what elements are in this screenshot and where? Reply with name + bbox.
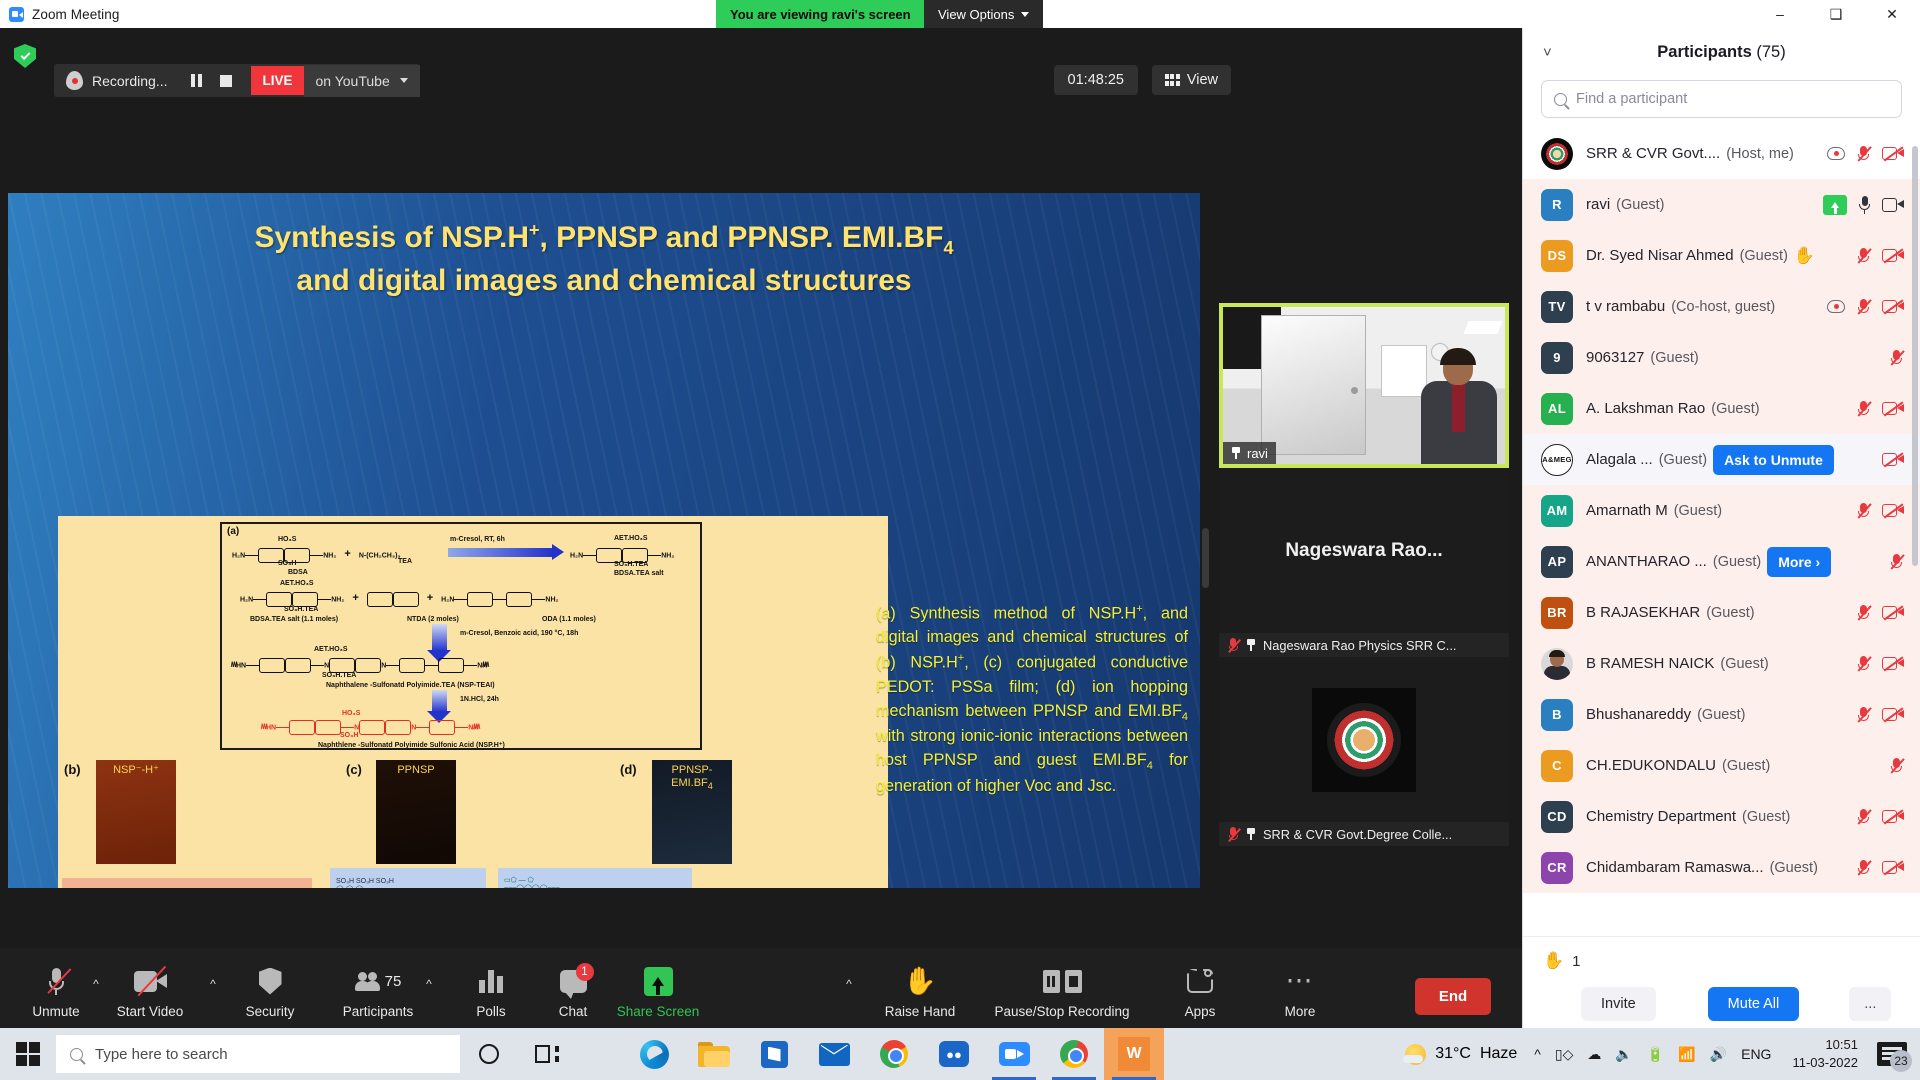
- structure-image-c: ▭⬠ — ⬠~~~◯◯◯◯~~~◯ ◯ ◯ ◯~~~⬡⬡⬡~~~: [498, 868, 692, 888]
- person-in-video: [1419, 351, 1501, 468]
- participant-row[interactable]: BRB RAJASEKHAR(Guest): [1523, 587, 1920, 638]
- taskbar-chrome2-button[interactable]: [1044, 1028, 1104, 1080]
- participant-name: SRR & CVR Govt....(Host, me): [1586, 145, 1827, 162]
- viewing-screen-banner: You are viewing ravi's screen: [716, 0, 925, 28]
- camera-off-icon: [134, 961, 167, 1001]
- start-video-label: Start Video: [117, 1004, 184, 1019]
- zoom-icon: [999, 1042, 1030, 1066]
- raise-hand-label: Raise Hand: [885, 1004, 956, 1019]
- participant-status-icons: [1856, 706, 1904, 724]
- participant-row[interactable]: AMAmarnath M(Guest): [1523, 485, 1920, 536]
- participant-row[interactable]: 99063127(Guest): [1523, 332, 1920, 383]
- audio-options-caret-icon[interactable]: ^: [90, 978, 102, 990]
- taskbar-store-button[interactable]: [744, 1028, 804, 1080]
- edge-icon: [640, 1040, 669, 1069]
- participant-status-icons: [1889, 757, 1904, 775]
- cortana-button[interactable]: [460, 1028, 518, 1080]
- weather-condition: Haze: [1480, 1045, 1517, 1063]
- ask-to-unmute-button[interactable]: Ask to Unmute: [1713, 445, 1834, 475]
- participants-panel: ˅ Participants (75) Find a participant S…: [1522, 28, 1920, 1051]
- college-crest-icon: [1327, 703, 1401, 777]
- slide-title: Synthesis of NSP.H+, PPNSP and PPNSP. EM…: [8, 193, 1200, 300]
- label-condition-1: m-Cresol, RT, 6h: [450, 536, 505, 543]
- taskbar-clock[interactable]: 10:51 11-03-2022: [1778, 1036, 1870, 1071]
- label-product-1: Naphthalene -Sulfonatd Polyimide.TEA (NS…: [326, 682, 495, 689]
- label-so3h-tea: SO₃H.TEA: [322, 672, 356, 679]
- participant-name: Bhushanareddy(Guest): [1586, 706, 1856, 723]
- structure-b-glyphs: SO₃H SO₃H SO₃H◯ ◯ ◯~~~◯●◯●◯~~~◯ ◯ ◯SO₃ S…: [336, 878, 394, 888]
- participant-role: (Guest): [1720, 656, 1768, 672]
- share-caret-icon[interactable]: ^: [843, 978, 855, 990]
- encryption-shield-icon[interactable]: [14, 44, 36, 68]
- thumbnail-nageswara-rao[interactable]: Nageswara Rao...: [1219, 468, 1509, 633]
- thumbnail-label: SRR & CVR Govt.Degree Colle...: [1263, 827, 1452, 842]
- mic-off-icon: [1856, 604, 1871, 622]
- camera-off-icon: [1882, 860, 1904, 875]
- participants-list[interactable]: SRR & CVR Govt....(Host, me)Rravi(Guest)…: [1523, 128, 1920, 988]
- apps-label: Apps: [1185, 1004, 1216, 1019]
- participant-status-icons: [1856, 808, 1904, 826]
- label-oda: ODA (1.1 moles): [542, 616, 596, 623]
- live-badge: LIVE: [251, 66, 303, 95]
- start-button[interactable]: [0, 1028, 56, 1080]
- grid-view-icon: [1165, 74, 1180, 86]
- college-logo-frame: [1312, 688, 1416, 792]
- thumbnail-display-name: Nageswara Rao...: [1285, 540, 1442, 562]
- taskbar-apps: ●● W: [624, 1028, 1164, 1080]
- raise-hand-button[interactable]: ✋ Raise Hand: [872, 961, 968, 1037]
- sample-label-d: (d): [620, 762, 637, 777]
- video-options-caret-icon[interactable]: ^: [207, 978, 219, 990]
- pause-stop-label: Pause/Stop Recording: [994, 1004, 1129, 1019]
- taskbar-search-placeholder: Type here to search: [95, 1046, 228, 1063]
- participants-button[interactable]: 75 Participants: [330, 961, 426, 1037]
- label-bdsa-tea-salt: BDSA.TEA salt: [614, 570, 664, 577]
- mic-on-icon: [1858, 196, 1871, 214]
- participant-row[interactable]: Rravi(Guest): [1523, 179, 1920, 230]
- participant-role: (Guest): [1616, 197, 1664, 213]
- pause-icon: [191, 74, 202, 87]
- sample-caption-d-sub: 4: [708, 781, 713, 791]
- participant-name: 9063127(Guest): [1586, 349, 1889, 366]
- participants-more-button[interactable]: ...: [1849, 987, 1891, 1021]
- body-part-4: with strong ionic-ionic interactions bet…: [876, 727, 1188, 769]
- participants-title-text: Participants: [1657, 43, 1751, 61]
- more-participant-button[interactable]: More ›: [1767, 547, 1831, 577]
- participants-panel-header: ˅ Participants (75): [1523, 28, 1920, 76]
- camera-off-icon: [1882, 452, 1904, 467]
- invite-button[interactable]: Invite: [1581, 987, 1656, 1021]
- participant-name: ravi(Guest): [1586, 196, 1823, 213]
- participant-role: (Guest): [1713, 554, 1761, 570]
- participants-count: 75: [385, 973, 402, 990]
- stop-icon: [220, 75, 232, 87]
- raised-hand-count: 1: [1572, 953, 1580, 970]
- unmute-button[interactable]: Unmute: [8, 961, 104, 1037]
- label-ho3s: HO₃S: [278, 536, 296, 543]
- more-dots-icon: ⋯: [1286, 961, 1315, 1001]
- thumbnail-ravi[interactable]: ravi: [1219, 303, 1509, 468]
- participant-row[interactable]: SRR & CVR Govt....(Host, me): [1523, 128, 1920, 179]
- stream-target-button[interactable]: on YouTube: [304, 65, 420, 97]
- pin-icon: [1231, 447, 1241, 459]
- avatar: [1541, 138, 1573, 170]
- camera-off-icon: [1882, 401, 1904, 416]
- participant-role: (Guest): [1674, 503, 1722, 519]
- search-icon: [70, 1048, 83, 1061]
- chat-badge: 1: [576, 963, 594, 981]
- polls-label: Polls: [476, 1004, 505, 1019]
- notification-count: 23: [1890, 1050, 1912, 1072]
- system-tray: 31°C Haze ^ ▯◇ ☁ 🔈 🔋 📶 🔊 ENG 10:51 11-03…: [1399, 1028, 1920, 1080]
- label-aet: AET.HO₃S: [280, 580, 314, 587]
- show-hidden-icons-button[interactable]: ^: [1527, 1028, 1548, 1080]
- participant-status-icons: [1889, 553, 1904, 571]
- participant-role: (Guest): [1770, 860, 1818, 876]
- participant-display-name: SRR & CVR Govt....: [1586, 145, 1720, 162]
- window-title-bar: Zoom Meeting You are viewing ravi's scre…: [0, 0, 1920, 28]
- participant-status-icons: [1856, 859, 1904, 877]
- ravi-video-feed: [1223, 307, 1505, 464]
- structure-c-glyphs: ▭⬠ — ⬠~~~◯◯◯◯~~~◯ ◯ ◯ ◯~~~⬡⬡⬡~~~: [504, 876, 560, 888]
- stop-recording-button[interactable]: [211, 64, 241, 97]
- mic-off-icon: [1856, 655, 1871, 673]
- share-screen-label: Share Screen: [617, 1004, 700, 1019]
- participant-name: CH.EDUKONDALU(Guest): [1586, 757, 1889, 774]
- participant-role: (Guest): [1697, 707, 1745, 723]
- notifications-icon: 23: [1877, 1042, 1907, 1066]
- participant-status-icons: [1889, 349, 1904, 367]
- more-label: More: [1285, 1004, 1316, 1019]
- mail-icon: [819, 1043, 850, 1066]
- taskbar-zoom-button[interactable]: [984, 1028, 1044, 1080]
- participant-name: A. Lakshman Rao(Guest): [1586, 400, 1856, 417]
- microsoft-store-icon: [761, 1041, 788, 1068]
- label-condition-2: m-Cresol, Benzoic acid, 190 °C, 18h: [460, 630, 578, 637]
- stream-target-label: on YouTube: [316, 73, 390, 89]
- avatar: DS: [1541, 240, 1573, 272]
- label-tea-reagent: N-(CH₂CH₃)₃: [359, 552, 401, 559]
- clock-time: 10:51: [1825, 1036, 1858, 1054]
- camera-off-icon: [1882, 707, 1904, 722]
- mic-off-icon: [1856, 706, 1871, 724]
- security-button[interactable]: Security: [222, 961, 318, 1037]
- thumbnail-row-nageswara: Nageswara Rao Physics SRR C...: [1219, 633, 1509, 657]
- participant-display-name: B RAJASEKHAR: [1586, 604, 1700, 621]
- unmute-request-icon: [1823, 195, 1847, 215]
- taskbar-mail-button[interactable]: [804, 1028, 864, 1080]
- thumbnail-srr-cvr-college[interactable]: [1219, 657, 1509, 822]
- weather-temp: 31°C: [1435, 1045, 1471, 1063]
- avatar: BR: [1541, 597, 1573, 629]
- participant-row[interactable]: TVt v rambabu(Co-host, guest): [1523, 281, 1920, 332]
- pin-icon: [1246, 828, 1256, 840]
- participant-role: (Host, me): [1726, 146, 1794, 162]
- participants-caret-icon[interactable]: ^: [423, 978, 435, 990]
- avatar: CD: [1541, 801, 1573, 833]
- participant-role: (Guest): [1711, 401, 1759, 417]
- cortana-icon: [479, 1044, 499, 1064]
- mic-off-icon: [1856, 247, 1871, 265]
- sample-label-b: (b): [64, 762, 81, 777]
- weather-widget[interactable]: 31°C Haze: [1399, 1044, 1527, 1065]
- participant-display-name: Bhushanareddy: [1586, 706, 1691, 723]
- participant-display-name: 9063127: [1586, 349, 1644, 366]
- thumbnail-label: Nageswara Rao Physics SRR C...: [1263, 638, 1456, 653]
- volume-tray-icon[interactable]: 🔊: [1703, 1028, 1734, 1080]
- participants-label: Participants: [343, 1004, 414, 1019]
- recording-icon: [66, 71, 83, 90]
- participant-row[interactable]: CDChemistry Department(Guest): [1523, 791, 1920, 842]
- taskbar-teams-button[interactable]: ●●: [924, 1028, 984, 1080]
- body-sub-1: 4: [1182, 711, 1188, 723]
- participant-display-name: ravi: [1586, 196, 1610, 213]
- start-video-button[interactable]: Start Video: [102, 961, 198, 1037]
- label-nh2: NH₂: [331, 596, 344, 603]
- camera-off-icon: [1882, 809, 1904, 824]
- minimize-button[interactable]: –: [1752, 0, 1808, 28]
- participant-status-icons: [1882, 452, 1904, 467]
- thumbnail-name-bar: ravi: [1223, 442, 1276, 464]
- camera-off-icon: [1882, 146, 1904, 161]
- sample-caption-b: NSP⁻-H⁺: [96, 764, 176, 777]
- participants-panel-title: Participants (75): [1523, 43, 1920, 62]
- slide-figure-panel: (a) H₂NNH₂ + N-(CH₂CH₃)₃ HO₃S SO₃H BDSA …: [58, 516, 888, 888]
- label-so3h: SO₃H: [340, 732, 358, 739]
- participant-role: (Guest): [1740, 248, 1788, 264]
- participant-status-icons: [1823, 195, 1904, 215]
- participants-scrollbar[interactable]: [1912, 146, 1918, 566]
- chat-icon: 1: [560, 961, 587, 1001]
- zoom-app-icon: [9, 7, 24, 22]
- view-layout-button[interactable]: View: [1152, 65, 1231, 95]
- chevron-down-icon: [400, 78, 408, 83]
- participant-status-icons: [1827, 298, 1904, 316]
- shared-screen-slide[interactable]: Synthesis of NSP.H+, PPNSP and PPNSP. EM…: [8, 193, 1200, 888]
- taskbar-chrome-button[interactable]: [864, 1028, 924, 1080]
- mic-off-icon: [1889, 553, 1904, 571]
- participant-row[interactable]: B RAMESH NAICK(Guest): [1523, 638, 1920, 689]
- avatar: [1541, 648, 1573, 680]
- participant-row[interactable]: CCH.EDUKONDALU(Guest): [1523, 740, 1920, 791]
- mic-off-icon: [48, 961, 64, 1001]
- sample-caption-c: PPNSP: [376, 764, 456, 777]
- shield-icon: [259, 961, 282, 1001]
- wifi-tray-icon[interactable]: 📶: [1671, 1028, 1702, 1080]
- search-placeholder: Find a participant: [1576, 91, 1687, 107]
- taskbar-edge-button[interactable]: [624, 1028, 684, 1080]
- action-center-button[interactable]: 23: [1870, 1028, 1914, 1080]
- polls-icon: [479, 961, 503, 1001]
- participant-display-name: ANANTHARAO ...: [1586, 553, 1707, 570]
- structure-image-b: SO₃H SO₃H SO₃H◯ ◯ ◯~~~◯●◯●◯~~~◯ ◯ ◯SO₃ S…: [330, 868, 486, 888]
- recording-status-group: Recording... LIVE on YouTube: [54, 64, 420, 97]
- thumbnail-row-srr: SRR & CVR Govt.Degree Colle...: [1219, 822, 1509, 846]
- mic-off-icon: [1227, 827, 1239, 842]
- microphone-tray-icon[interactable]: 🔈: [1608, 1028, 1639, 1080]
- label-so3h: SO₃H: [278, 560, 296, 567]
- participant-status-icons: [1856, 502, 1904, 520]
- windows-logo-icon: [16, 1042, 41, 1067]
- participant-name: Amarnath M(Guest): [1586, 502, 1856, 519]
- slide-title-sup: +: [529, 220, 540, 240]
- participant-row[interactable]: CRChidambaram Ramaswa...(Guest): [1523, 842, 1920, 893]
- participant-name: Chemistry Department(Guest): [1586, 808, 1856, 825]
- participant-role: (Co-host, guest): [1671, 299, 1775, 315]
- reaction-arrow-3: [432, 690, 447, 712]
- avatar: CR: [1541, 852, 1573, 884]
- avatar: B: [1541, 699, 1573, 731]
- room-ceiling-light: [1463, 321, 1502, 334]
- mic-off-icon: [1856, 298, 1871, 316]
- participant-display-name: Alagala ...: [1586, 451, 1653, 468]
- battery-tray-icon[interactable]: 🔋: [1640, 1028, 1671, 1080]
- mic-off-icon: [1856, 502, 1871, 520]
- onedrive-tray-icon[interactable]: ☁: [1580, 1028, 1608, 1080]
- language-indicator[interactable]: ENG: [1734, 1028, 1778, 1080]
- structure-image-a: NSP⁻-H⁺ \/\/—◯—◯—◯—◯—O—◯—NH\/\/\: [62, 878, 312, 888]
- label-condition-3: 1N.HCl, 24h: [460, 696, 499, 703]
- camera-off-icon: [1882, 248, 1904, 263]
- camera-off-icon: [1882, 605, 1904, 620]
- mic-off-icon: [1889, 757, 1904, 775]
- thumbnail-label: ravi: [1247, 446, 1268, 461]
- chrome-icon: [880, 1040, 908, 1068]
- avatar: C: [1541, 750, 1573, 782]
- label-h2n: H₂N: [570, 552, 583, 559]
- participant-name: ANANTHARAO ...(Guest)More ›: [1586, 547, 1889, 577]
- avatar: TV: [1541, 291, 1573, 323]
- label-h2n: H₂N: [232, 552, 245, 559]
- room-door: [1261, 315, 1366, 455]
- video-thumbnail-strip: ravi Nageswara Rao... Nageswara Rao Phys…: [1219, 303, 1509, 846]
- participant-display-name: A. Lakshman Rao: [1586, 400, 1705, 417]
- meeting-timer: 01:48:25: [1054, 65, 1138, 95]
- view-options-button[interactable]: View Options: [924, 0, 1043, 28]
- camera-off-icon: [1882, 503, 1904, 518]
- body-part-1: (a) Synthesis method of NSP.H: [876, 604, 1136, 622]
- collapse-panel-chevron-icon[interactable]: ˅: [1543, 44, 1552, 61]
- participant-row[interactable]: A&MEGAlagala ...(Guest)Ask to Unmute: [1523, 434, 1920, 485]
- camera-off-icon: [1882, 656, 1904, 671]
- label-bdsa: BDSA: [288, 569, 308, 576]
- view-options-label: View Options: [938, 7, 1014, 22]
- raised-hand-icon: ✋: [1543, 951, 1564, 971]
- recording-label: Recording...: [92, 73, 181, 89]
- participant-row[interactable]: BBhushanareddy(Guest): [1523, 689, 1920, 740]
- pause-recording-button[interactable]: [181, 64, 211, 97]
- participant-row[interactable]: DSDr. Syed Nisar Ahmed(Guest)✋: [1523, 230, 1920, 281]
- avatar: R: [1541, 189, 1573, 221]
- sample-photo-d: PPNSP- EMI.BF4: [652, 760, 732, 864]
- end-meeting-button[interactable]: End: [1415, 978, 1491, 1015]
- file-explorer-icon: [698, 1042, 730, 1067]
- raised-hand-icon: ✋: [1794, 246, 1815, 266]
- participant-role: (Guest): [1659, 452, 1707, 468]
- camera-off-icon: [1882, 299, 1904, 314]
- share-screen-button[interactable]: Share Screen: [610, 961, 706, 1037]
- mute-all-button[interactable]: Mute All: [1708, 987, 1800, 1021]
- participant-status-icons: [1856, 247, 1904, 265]
- label-tea: TEA: [398, 558, 412, 565]
- more-button[interactable]: ⋯ More: [1252, 961, 1348, 1037]
- pause-stop-recording-button[interactable]: Pause/Stop Recording: [966, 961, 1158, 1037]
- taskbar-search-input[interactable]: Type here to search: [56, 1035, 460, 1073]
- scheme-tag: (a): [227, 526, 239, 537]
- raised-hand-counter: ✋ 1: [1543, 951, 1581, 971]
- chat-button[interactable]: 1 Chat: [525, 961, 621, 1037]
- mic-off-icon: [1856, 400, 1871, 418]
- slide-scrollbar[interactable]: [1202, 528, 1209, 588]
- label-nh2: NH₂: [661, 552, 674, 559]
- cloud-recording-icon: [1827, 147, 1845, 160]
- participant-row[interactable]: ALA. Lakshman Rao(Guest): [1523, 383, 1920, 434]
- participant-role: (Guest): [1706, 605, 1754, 621]
- window-buttons: – ❑ ✕: [1752, 0, 1920, 28]
- mic-off-icon: [1889, 349, 1904, 367]
- chat-label: Chat: [559, 1004, 588, 1019]
- label-h2n: H₂N: [441, 596, 454, 603]
- participants-title-count: (75): [1756, 43, 1785, 61]
- mic-off-icon: [1856, 808, 1871, 826]
- avatar: 9: [1541, 342, 1573, 374]
- mic-off-icon: [1856, 859, 1871, 877]
- camera-tray-icon[interactable]: ▯◇: [1548, 1028, 1580, 1080]
- pause-stop-icon: [1043, 961, 1082, 1001]
- reaction-scheme-diagram: (a) H₂NNH₂ + N-(CH₂CH₃)₃ HO₃S SO₃H BDSA …: [220, 522, 702, 750]
- slide-title-sub: 4: [944, 238, 954, 258]
- clock-date: 11-03-2022: [1792, 1054, 1858, 1072]
- participant-search-field[interactable]: Find a participant: [1541, 80, 1902, 118]
- participant-display-name: Dr. Syed Nisar Ahmed: [1586, 247, 1734, 264]
- apps-button[interactable]: Apps: [1152, 961, 1248, 1037]
- close-button[interactable]: ✕: [1864, 0, 1920, 28]
- participant-role: (Guest): [1722, 758, 1770, 774]
- reaction-arrow-1: [448, 548, 553, 557]
- participant-role: (Guest): [1742, 809, 1790, 825]
- participant-display-name: Chidambaram Ramaswa...: [1586, 859, 1764, 876]
- mic-off-icon: [1856, 145, 1871, 163]
- maximize-button[interactable]: ❑: [1808, 0, 1864, 28]
- window-title: Zoom Meeting: [32, 7, 120, 22]
- participant-row[interactable]: APANANTHARAO ...(Guest)More ›: [1523, 536, 1920, 587]
- camera-on-icon: [1882, 198, 1904, 212]
- recording-toolbar: Recording... LIVE on YouTube 01:48:25 Vi…: [0, 28, 1522, 80]
- room-doorknob: [1351, 387, 1358, 394]
- label-so3h-tea: SO₃H.TEA: [614, 561, 648, 568]
- label-bdsa-moles: BDSA.TEA salt (1.1 moles): [250, 616, 338, 623]
- security-label: Security: [246, 1004, 295, 1019]
- sample-caption-d-line1: PPNSP-: [672, 764, 713, 776]
- participant-name: Chidambaram Ramaswa...(Guest): [1586, 859, 1856, 876]
- slide-title-part1: Synthesis of NSP.H: [254, 221, 529, 254]
- task-view-icon: [535, 1045, 559, 1063]
- taskbar-file-explorer-button[interactable]: [684, 1028, 744, 1080]
- participant-display-name: Chemistry Department: [1586, 808, 1736, 825]
- task-view-button[interactable]: [518, 1028, 576, 1080]
- participant-display-name: B RAMESH NAICK: [1586, 655, 1714, 672]
- sample-caption-d-line2: EMI.BF: [671, 777, 708, 789]
- chevron-down-icon: [1021, 12, 1029, 17]
- slide-title-part2: , PPNSP and PPNSP. EMI.BF: [540, 221, 944, 254]
- sample-caption-d: PPNSP- EMI.BF4: [652, 764, 732, 791]
- taskbar-wps-button[interactable]: W: [1104, 1028, 1164, 1080]
- participant-status-icons: [1856, 604, 1904, 622]
- apps-icon: [1187, 961, 1213, 1001]
- unmute-label: Unmute: [32, 1004, 79, 1019]
- weather-icon: [1405, 1044, 1426, 1065]
- hand-icon: ✋: [903, 961, 937, 1001]
